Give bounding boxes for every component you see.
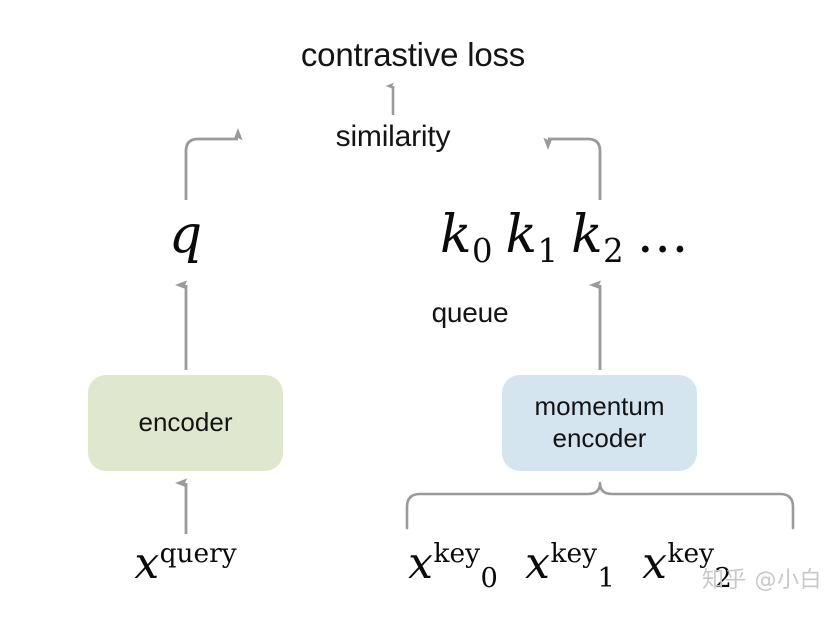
key-vectors-symbols: k0k1k2…	[440, 205, 760, 265]
connector-xkeys-brace	[407, 483, 793, 528]
x-key-symbol-1: xkey1	[510, 538, 630, 589]
x-query-symbol: xquery	[88, 538, 283, 589]
similarity-label: similarity	[170, 120, 616, 154]
momentum-encoder-box[interactable]: momentum encoder	[502, 375, 697, 471]
watermark: 知乎 @小白	[702, 562, 822, 594]
key-vector-1: k1	[506, 205, 559, 265]
key-vectors-ellipsis: …	[637, 205, 690, 265]
momentum-encoder-box-label: momentum encoder	[534, 391, 664, 454]
contrastive-loss-label: contrastive loss	[0, 36, 826, 74]
momentum-encoder-line-1: momentum	[534, 391, 664, 421]
x-key-symbol-0: xkey0	[393, 538, 513, 589]
encoder-box-label: encoder	[139, 407, 233, 439]
queue-label: queue	[360, 297, 580, 329]
momentum-encoder-line-2: encoder	[553, 423, 647, 453]
key-vector-0: k0	[440, 205, 493, 265]
key-vector-2: k2	[571, 205, 624, 265]
encoder-box[interactable]: encoder	[88, 375, 283, 471]
query-vector-symbol: q	[88, 205, 283, 265]
